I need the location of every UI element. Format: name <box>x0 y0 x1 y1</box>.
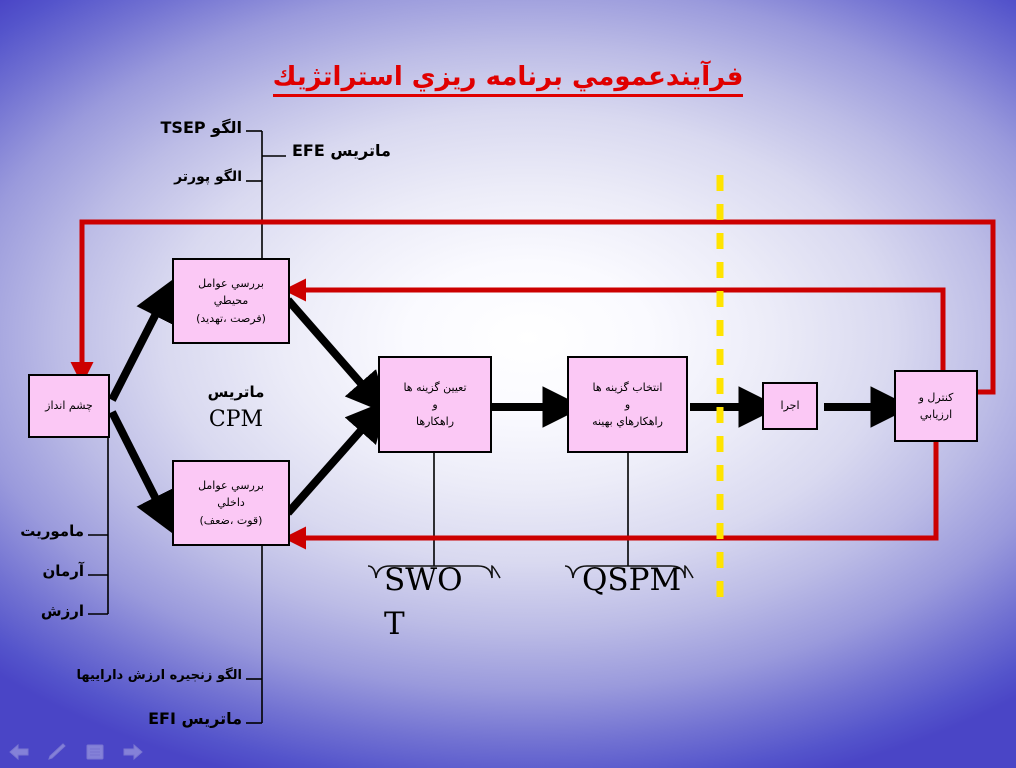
label-swot-line-2: T <box>384 608 405 641</box>
slideshow-menu-icon[interactable] <box>84 742 106 762</box>
box-control-evaluation-line-1: کنترل و <box>919 389 954 406</box>
box-select-options-line-3: راهکارهاي بهینه <box>592 413 663 430</box>
box-control-evaluation[interactable]: کنترل و ارزیابي <box>894 370 978 442</box>
box-vision[interactable]: چشم انداز <box>28 374 110 438</box>
box-determine-options[interactable]: تعیین گزینه ها و راهکارها <box>378 356 492 453</box>
slideshow-toolbar[interactable] <box>8 742 144 762</box>
label-value-chain-model: الگو زنجیره ارزش داراییها <box>100 669 242 683</box>
label-cpm-matrix-line-1: ماتریس <box>196 385 276 401</box>
label-mission: ماموریت <box>14 524 84 540</box>
label-swot-line-1: SWO <box>384 564 463 597</box>
label-cpm-matrix-line-2: CPM <box>196 408 276 431</box>
box-external-factors-line-2: محیطي <box>214 292 249 309</box>
box-execution[interactable]: اجرا <box>762 382 818 430</box>
pen-tool-icon[interactable] <box>46 742 68 762</box>
box-determine-options-line-1: تعیین گزینه ها <box>403 379 466 396</box>
box-select-options[interactable]: انتخاب گزینه ها و راهکارهاي بهینه <box>567 356 688 453</box>
box-internal-factors[interactable]: بررسي عوامل داخلي (قوت ،ضعف) <box>172 460 290 546</box>
box-execution-line-1: اجرا <box>781 397 800 414</box>
label-ideal: آرمان <box>14 564 84 580</box>
box-select-options-line-1: انتخاب گزینه ها <box>593 379 663 396</box>
presentation-slide: فرآیندعمومي برنامه ریزي استراتژیك <box>0 0 1016 768</box>
box-internal-factors-line-1: بررسي عوامل <box>198 477 264 494</box>
label-qspm: QSPM <box>582 564 681 597</box>
label-value: ارزش <box>14 604 84 620</box>
box-select-options-line-2: و <box>625 396 630 413</box>
box-vision-line-1: چشم انداز <box>45 397 93 414</box>
label-porter-model: الگو پورتر <box>150 170 242 185</box>
label-efe-matrix: ماتریس EFE <box>292 143 391 160</box>
phase-divider <box>0 0 1016 768</box>
label-pest-model: الگو PEST <box>150 120 242 137</box>
box-external-factors[interactable]: بررسي عوامل محیطي (فرصت ،تهدید) <box>172 258 290 344</box>
label-ife-matrix: ماتریس IFE <box>150 711 242 728</box>
next-slide-icon[interactable] <box>122 742 144 762</box>
previous-slide-icon[interactable] <box>8 742 30 762</box>
box-determine-options-line-2: و <box>432 396 437 413</box>
box-determine-options-line-3: راهکارها <box>416 413 454 430</box>
box-control-evaluation-line-2: ارزیابي <box>920 406 952 423</box>
box-external-factors-line-1: بررسي عوامل <box>198 275 264 292</box>
box-external-factors-line-3: (فرصت ،تهدید) <box>196 310 266 327</box>
box-internal-factors-line-2: داخلي <box>217 494 245 511</box>
box-internal-factors-line-3: (قوت ،ضعف) <box>200 512 263 529</box>
